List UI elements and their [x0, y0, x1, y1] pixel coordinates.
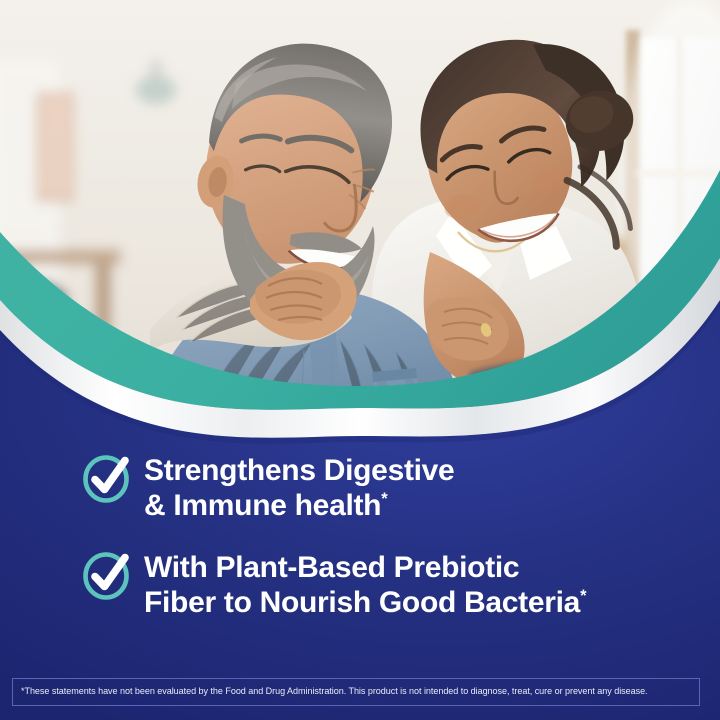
benefit-line-2: & Immune health: [144, 489, 381, 522]
check-circle-icon: [82, 454, 134, 504]
benefit-line-2: Fiber to Nourish Good Bacteria: [144, 586, 580, 619]
benefits-panel: Strengthens Digestive & Immune health* W…: [0, 430, 720, 720]
footnote-marker: *: [381, 490, 387, 508]
benefit-line-1: Strengthens Digestive: [144, 454, 454, 487]
product-benefit-banner: Strengthens Digestive & Immune health* W…: [0, 0, 720, 720]
benefit-item-prebiotic-fiber: With Plant-Based Prebiotic Fiber to Nour…: [82, 549, 692, 620]
fda-disclaimer-box: *These statements have not been evaluate…: [12, 678, 700, 706]
benefits-list: Strengthens Digestive & Immune health* W…: [82, 452, 692, 620]
benefit-text: Strengthens Digestive & Immune health*: [144, 452, 454, 523]
footnote-marker: *: [580, 587, 586, 605]
benefit-line-1: With Plant-Based Prebiotic: [144, 551, 519, 584]
check-circle-icon: [82, 551, 134, 601]
benefit-item-digestive-immune: Strengthens Digestive & Immune health*: [82, 452, 692, 523]
benefit-text: With Plant-Based Prebiotic Fiber to Nour…: [144, 549, 586, 620]
fda-disclaimer-text: *These statements have not been evaluate…: [21, 686, 681, 697]
